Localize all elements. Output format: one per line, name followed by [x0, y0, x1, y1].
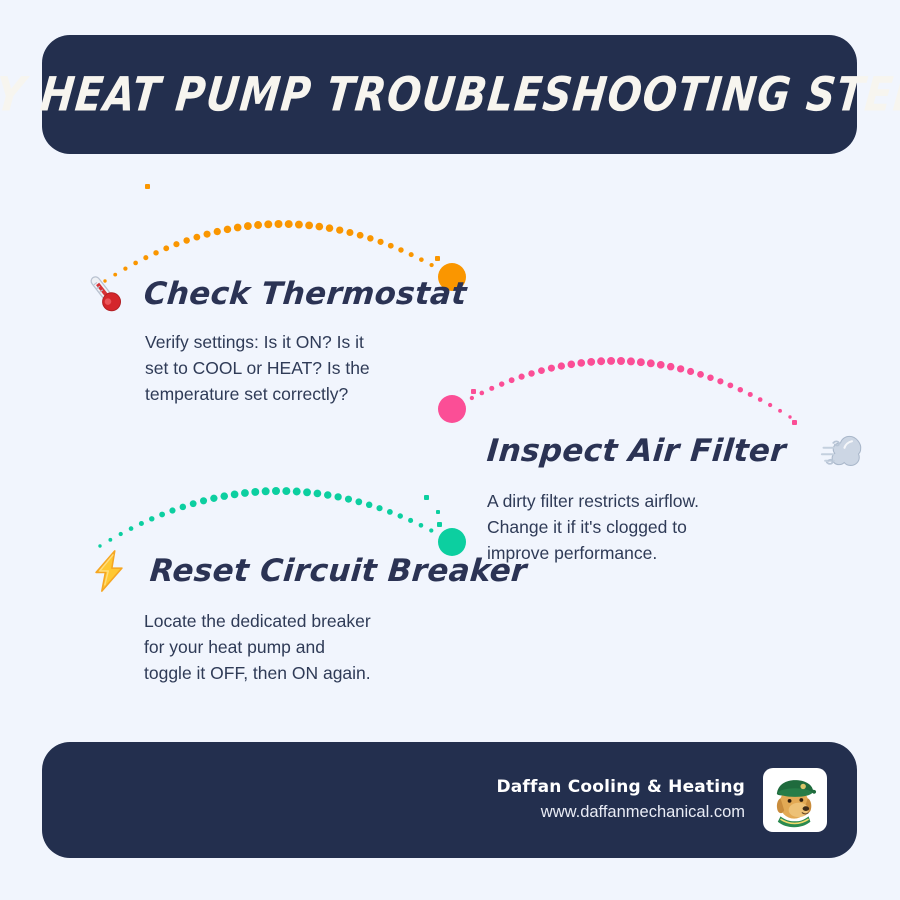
arc-dot [204, 231, 211, 238]
arc-dot [314, 490, 322, 498]
arc-dot [295, 221, 303, 229]
arc-dot [355, 498, 362, 505]
arc-dot [303, 488, 311, 496]
arc-dot [190, 500, 197, 507]
arc-dot [336, 226, 343, 233]
arc-dot [159, 512, 165, 518]
arc-dot [214, 228, 221, 235]
thermometer-icon [80, 269, 130, 319]
arc-dot [143, 255, 148, 260]
step-3-title: Reset Circuit Breaker [148, 553, 528, 589]
arc-dot [587, 358, 595, 366]
arc-dot [440, 534, 444, 538]
arc-dot [528, 370, 535, 377]
arc-dot [293, 488, 301, 496]
lightning-bolt-glyph [86, 546, 132, 596]
arc-dot [637, 358, 645, 366]
arc-dot [627, 357, 635, 365]
thermometer-glyph [80, 269, 130, 319]
step-1-header: Check Thermostat [80, 268, 467, 320]
step-inspect-air-filter: Inspect Air Filter A dirty filter restri… [487, 425, 870, 567]
company-website[interactable]: www.daffanmechanical.com [496, 800, 745, 825]
arc-dot [163, 245, 169, 251]
arc-dot [748, 392, 753, 397]
arc-dot [607, 357, 615, 365]
arc-dot [357, 232, 364, 239]
arc-dot [548, 365, 555, 372]
arc-dot [697, 371, 704, 378]
arc-dot [409, 252, 414, 257]
arc-dot [538, 367, 545, 374]
arc-dot [738, 387, 743, 392]
header-banner: DIY Heat Pump Troubleshooting Steps [42, 35, 857, 154]
step-2-header: Inspect Air Filter [487, 425, 870, 477]
arc-dot [489, 386, 494, 391]
arc-dot [346, 229, 353, 236]
speck-pink-1 [471, 389, 476, 394]
wind-dash-icon [816, 425, 870, 477]
speck-orange-1 [145, 184, 150, 189]
arc-dot [419, 257, 424, 262]
arc-dot [244, 222, 252, 230]
arc-dot [647, 359, 655, 367]
arc-dot [108, 538, 112, 542]
arc-dot [262, 487, 270, 495]
arc-dot [119, 532, 123, 536]
arc-dot [479, 391, 484, 396]
footer-text-block: Daffan Cooling & Heating www.daffanmecha… [496, 775, 745, 824]
arc-dot [470, 396, 474, 400]
arc-dot [398, 247, 403, 252]
arc-dot [193, 234, 200, 241]
page-title: DIY Heat Pump Troubleshooting Steps [0, 71, 900, 118]
arc-dot [324, 491, 332, 499]
lightning-bolt-icon [86, 546, 132, 596]
step-3-header: Reset Circuit Breaker [86, 545, 527, 597]
arc-dot [272, 487, 280, 495]
arc-dot [376, 505, 382, 511]
arc-dot [129, 526, 134, 531]
speck-teal-1 [437, 522, 442, 527]
arc-dot [234, 224, 242, 232]
arc-dot [149, 516, 154, 521]
arc-dot [153, 250, 158, 255]
company-name: Daffan Cooling & Heating [496, 775, 745, 800]
arc-dot [315, 223, 323, 231]
arc-dot [450, 540, 453, 543]
arc-dot [220, 492, 228, 500]
step-2-description: A dirty filter restricts airflow. Change… [487, 489, 772, 567]
arc-dot [133, 261, 138, 266]
step-3-description: Locate the dedicated breaker for your he… [144, 609, 429, 687]
arc-dot [577, 359, 585, 367]
arc-dot [169, 507, 175, 513]
arc-dot [285, 220, 293, 228]
arc-dot [558, 362, 565, 369]
arc-dot [264, 220, 272, 228]
arc-dot [758, 397, 763, 402]
arc-dot [450, 407, 453, 410]
arc-dot [707, 374, 714, 381]
arc-dot [429, 528, 433, 532]
arc-dot [275, 220, 283, 228]
arc-dot [717, 378, 723, 384]
step-reset-circuit-breaker: Reset Circuit Breaker Locate the dedicat… [86, 545, 527, 687]
arc-dot [183, 237, 190, 244]
arc-dot [139, 521, 144, 526]
arc-dot [667, 363, 675, 371]
arc-dot [241, 489, 249, 497]
arc-dot [687, 368, 694, 375]
arc-dot [788, 415, 791, 418]
arc-dot [388, 243, 394, 249]
arc-dot [254, 221, 262, 229]
arc-dot [677, 365, 684, 372]
arc-dot [173, 241, 179, 247]
arc-dot [180, 504, 187, 511]
arc-dot [231, 491, 239, 499]
arc-dot [326, 224, 334, 232]
arc-dot [305, 221, 313, 229]
speck-teal-2 [424, 495, 429, 500]
arc-dot [568, 361, 576, 369]
arc-dot [768, 403, 772, 407]
arc-dot [398, 513, 403, 518]
arc-dot [210, 495, 217, 502]
arc-dot [519, 374, 525, 380]
dog-mascot-logo [763, 768, 827, 832]
arc-dot [367, 235, 374, 242]
dog-mascot-glyph [766, 771, 824, 829]
arc-dot [251, 488, 259, 496]
footer-banner: Daffan Cooling & Heating www.daffanmecha… [42, 742, 857, 858]
arc-dot [597, 357, 605, 365]
arc-dot [617, 357, 625, 365]
arc-dot [345, 496, 352, 503]
arc-dot [419, 523, 424, 528]
speck-orange-2 [435, 256, 440, 261]
infographic-canvas: DIY Heat Pump Troubleshooting Steps [0, 0, 900, 900]
arc-dot [509, 377, 515, 383]
arc-dot [377, 239, 383, 245]
arc-dot [778, 409, 782, 413]
arc-dot [727, 382, 733, 388]
speck-teal-3 [436, 510, 440, 514]
arc-dot [334, 493, 341, 500]
wind-dash-glyph [816, 425, 870, 477]
footer-content: Daffan Cooling & Heating www.daffanmecha… [496, 742, 827, 858]
arc-dot [282, 487, 290, 495]
step-check-thermostat: Check Thermostat Verify settings: Is it … [80, 268, 467, 408]
arc-dot [429, 263, 433, 267]
arc-dot [366, 502, 373, 509]
step-1-description: Verify settings: Is it ON? Is it set to … [145, 330, 430, 408]
arc-dot [200, 497, 207, 504]
arc-dot [657, 361, 665, 369]
arc-dot [408, 518, 413, 523]
arc-dot [499, 381, 504, 386]
arc-dot [387, 509, 393, 515]
step-2-title: Inspect Air Filter [485, 433, 787, 469]
step-1-title: Check Thermostat [142, 276, 468, 312]
arc-dot [224, 226, 232, 234]
